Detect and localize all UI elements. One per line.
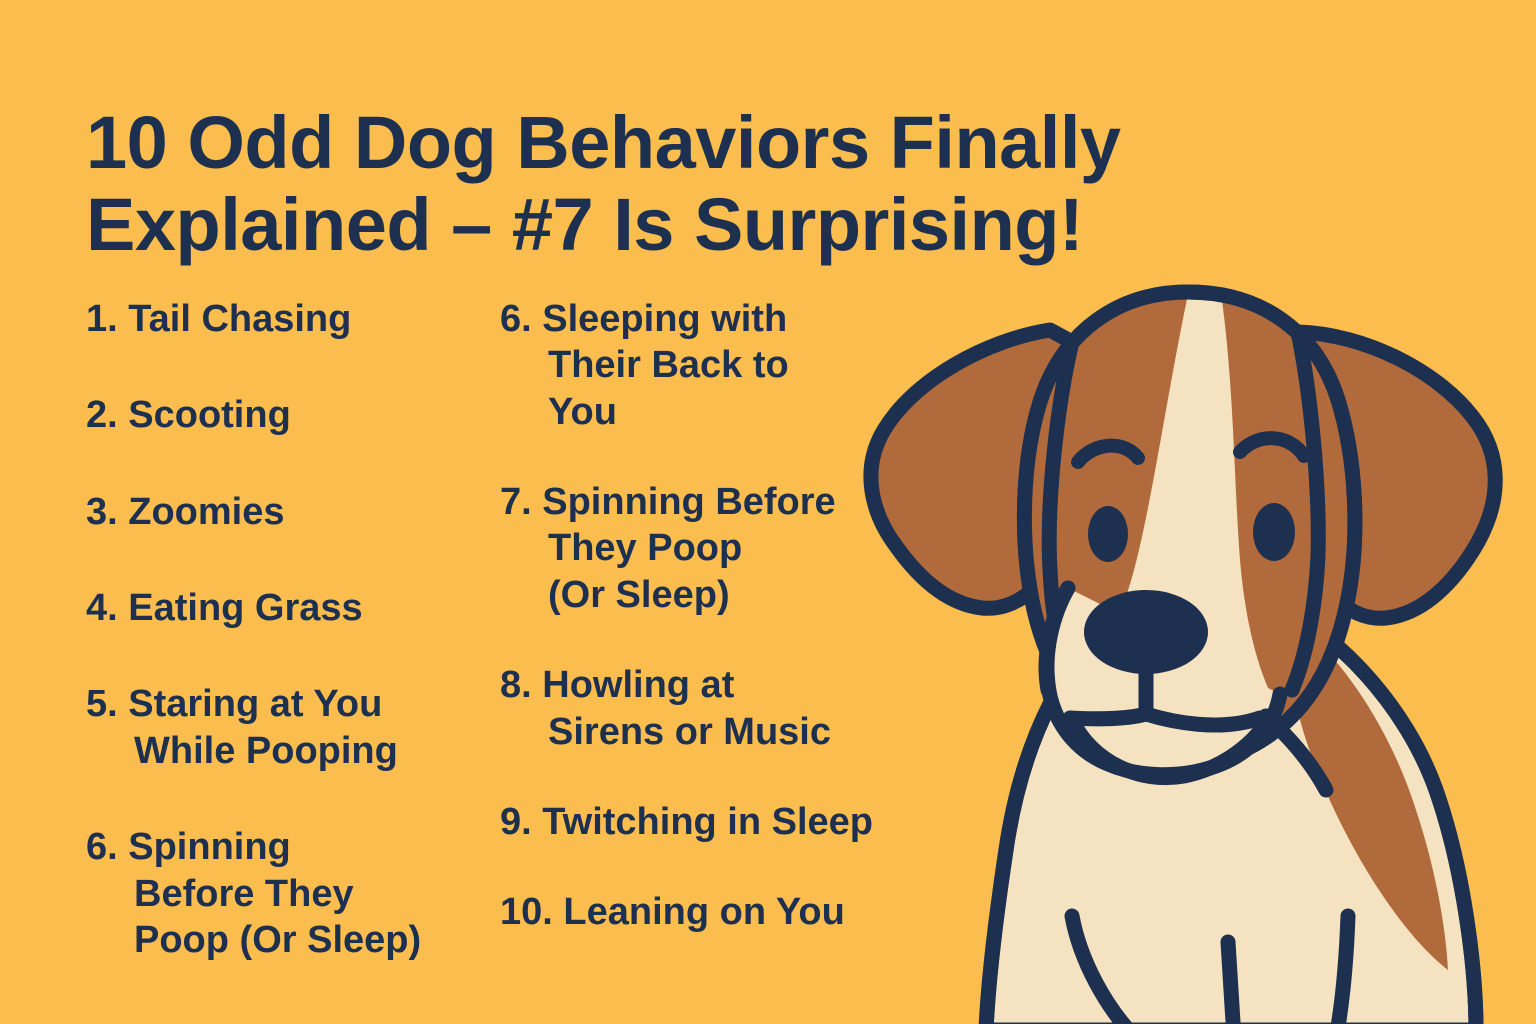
behavior-list-left-column: 1. Tail Chasing 2. Scooting 3. Zoomies 4… [86, 296, 486, 1013]
list-item: 6. Spinning Before They Poop (Or Sleep) [86, 824, 486, 963]
page-title: 10 Odd Dog Behaviors Finally Explained –… [86, 102, 1306, 268]
list-item: 1. Tail Chasing [86, 296, 486, 342]
list-item: 5. Staring at You While Pooping [86, 681, 486, 774]
list-item: 3. Zoomies [86, 489, 486, 535]
dog-illustration [836, 270, 1536, 1024]
infographic-poster: 10 Odd Dog Behaviors Finally Explained –… [0, 0, 1536, 1024]
list-item: 4. Eating Grass [86, 585, 486, 631]
list-item: 2. Scooting [86, 392, 486, 438]
